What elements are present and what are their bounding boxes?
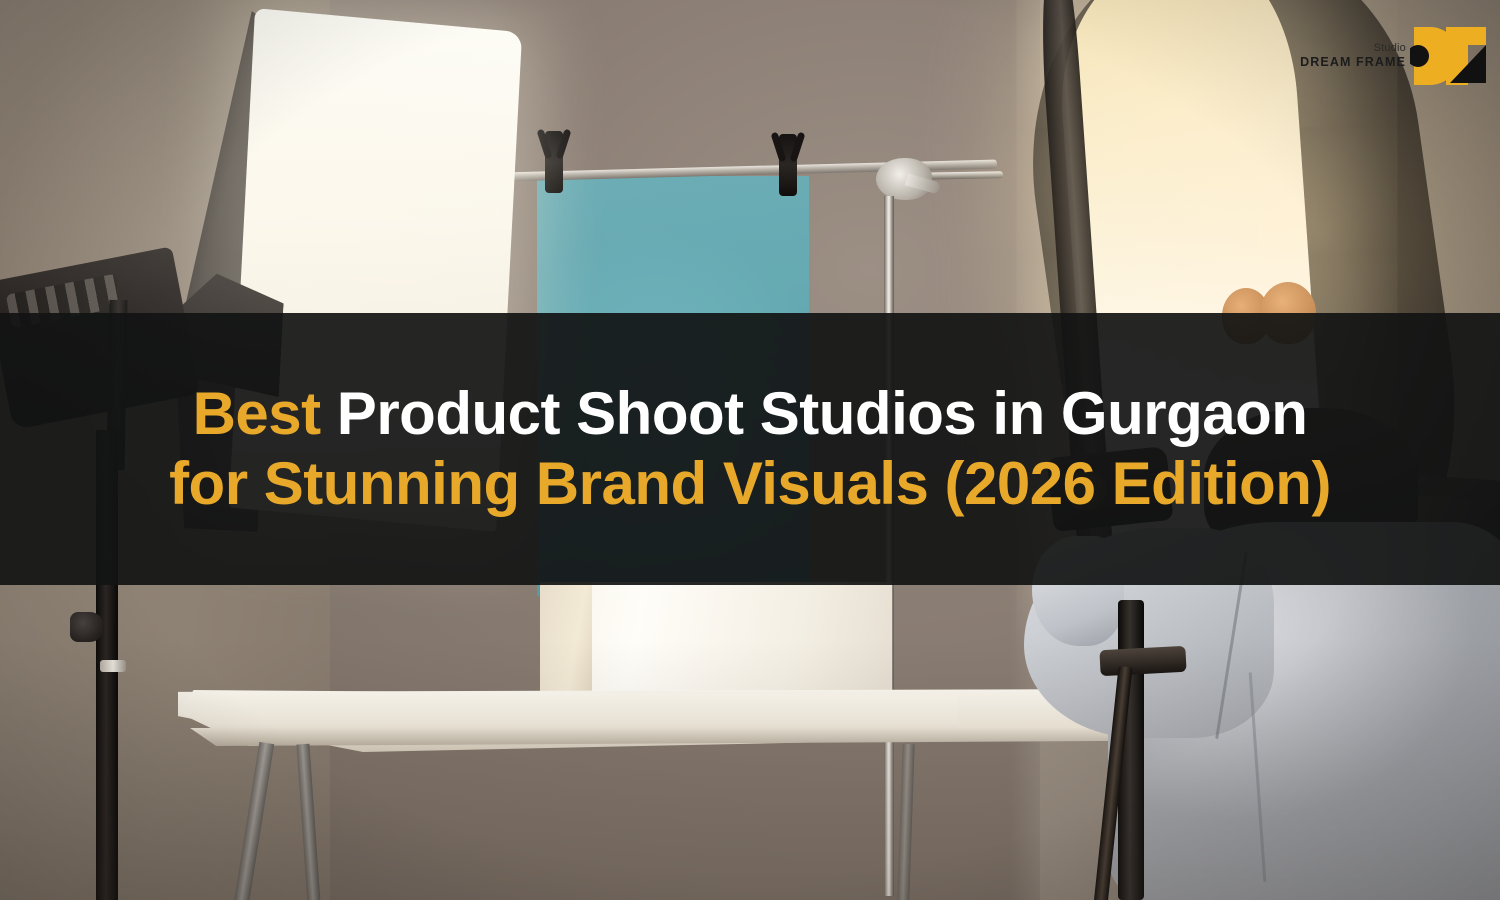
backdrop-clamp-right [779,134,797,196]
hero-title-line-2: for Stunning Brand Visuals (2026 Edition… [169,449,1331,519]
brand-logo-wordmark: Studio DREAM FRAME [1300,43,1406,69]
brand-logo-name: DREAM FRAME [1300,56,1406,69]
hero-title-line-1-rest: Product Shoot Studios in Gurgaon [321,380,1308,447]
hero-banner: Studio DREAM FRAME Best Product Shoot St… [0,0,1500,900]
boom-arm-head [876,158,932,200]
brand-logo-mark [1410,25,1488,87]
hero-title-highlight: Best [193,380,321,447]
light-stand-knob [70,612,104,642]
floor-shadow [0,640,1500,900]
backdrop-clamp-left [545,131,563,193]
brand-logo-tagline: Studio [1300,43,1406,55]
hero-title-overlay: Best Product Shoot Studios in Gurgaon fo… [0,313,1500,585]
brand-logo[interactable]: Studio DREAM FRAME [1348,18,1488,94]
hero-title-line-1: Best Product Shoot Studios in Gurgaon [193,379,1308,449]
